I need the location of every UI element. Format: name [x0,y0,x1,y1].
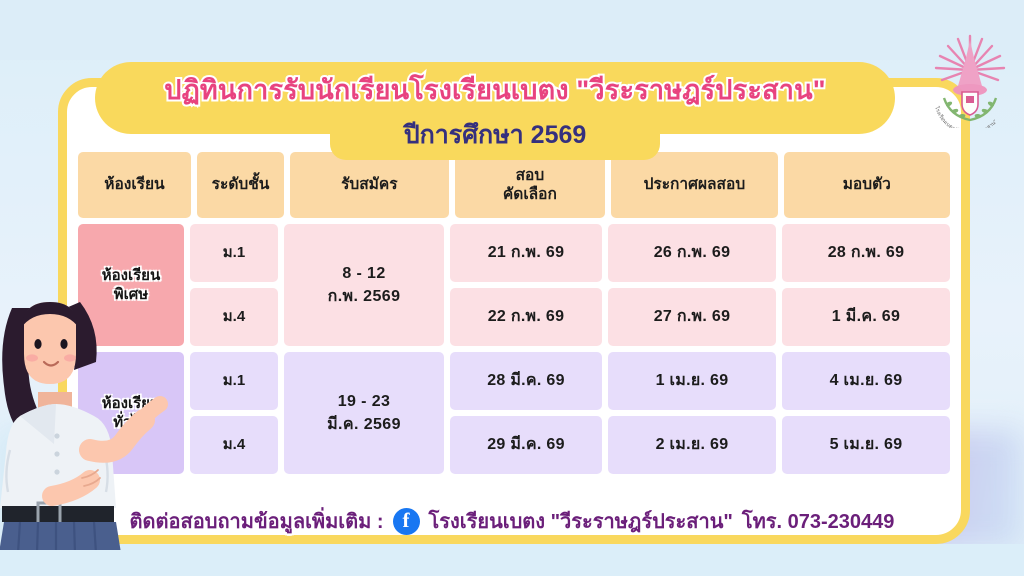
cell-apply-general: 19 - 23 มี.ค. 2569 [284,352,444,474]
footer-contact-label: ติดต่อสอบถามข้อมูลเพิ่มเติม : [130,505,384,537]
school-emblem-icon: โรงเรียนเบตง "วีระราษฎร์ประสาน" [924,24,1016,128]
cell-exam-date: 21 ก.พ. 69 [450,224,602,282]
table-header-row: ห้องเรียน ระดับชั้น รับสมัคร สอบ คัดเลือ… [78,152,950,218]
facebook-icon[interactable]: f [393,508,420,535]
cell-report-date: 4 เม.ย. 69 [782,352,950,410]
footer-contact-bar: ติดต่อสอบถามข้อมูลเพิ่มเติม : f โรงเรียน… [0,505,1024,537]
column-header-room: ห้องเรียน [78,152,191,218]
cell-exam-date: 28 มี.ค. 69 [450,352,602,410]
cell-result-date: 1 เม.ย. 69 [608,352,776,410]
background-top-band [0,0,1024,60]
cell-report-date: 1 มี.ค. 69 [782,288,950,346]
column-header-level: ระดับชั้น [197,152,284,218]
cell-report-date: 28 ก.พ. 69 [782,224,950,282]
cell-report-date: 5 เม.ย. 69 [782,416,950,474]
column-header-apply: รับสมัคร [290,152,449,218]
column-header-report: มอบตัว [784,152,950,218]
cell-result-date: 2 เม.ย. 69 [608,416,776,474]
table-row: ม.1 [190,224,278,282]
page-subtitle: ปีการศึกษา 2569 [95,115,895,155]
footer-facebook-page[interactable]: โรงเรียนเบตง "วีระราษฎร์ประสาน" [429,505,733,537]
footer-phone[interactable]: โทร. 073-230449 [742,505,895,537]
cell-exam-date: 22 ก.พ. 69 [450,288,602,346]
column-header-exam: สอบ คัดเลือก [455,152,606,218]
cell-apply-special: 8 - 12 ก.พ. 2569 [284,224,444,346]
column-header-result: ประกาศผลสอบ [611,152,777,218]
cell-result-date: 26 ก.พ. 69 [608,224,776,282]
cell-result-date: 27 ก.พ. 69 [608,288,776,346]
cell-exam-date: 29 มี.ค. 69 [450,416,602,474]
page-title: ปฏิทินการรับนักเรียนโรงเรียนเบตง "วีระรา… [95,68,895,111]
